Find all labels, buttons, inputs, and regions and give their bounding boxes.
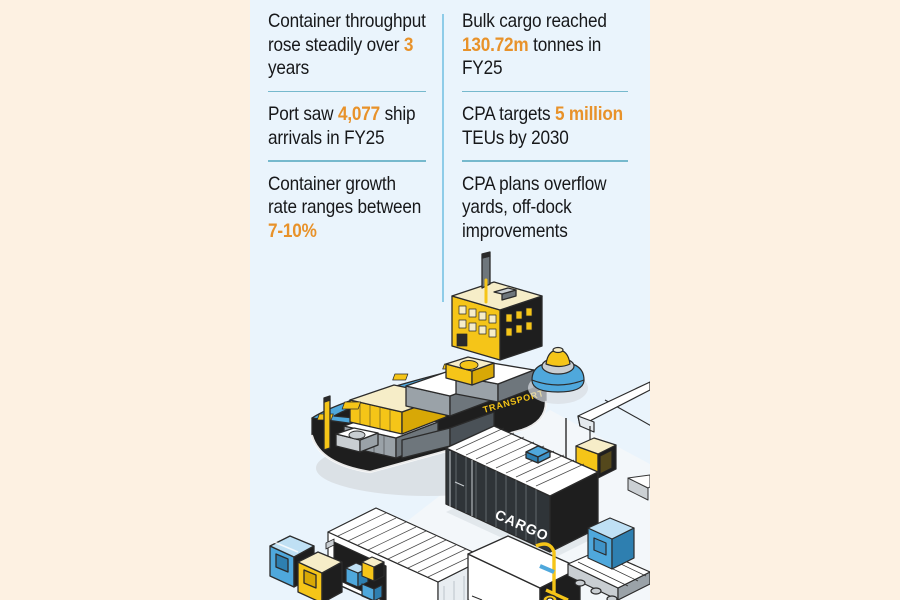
fact-ship-arrivals: Port saw 4,077 ship arrivals in FY25 xyxy=(268,103,428,150)
fact-bulk-cargo: Bulk cargo reached 130.72m tonnes in FY2… xyxy=(462,10,638,81)
fact-highlight: 3 xyxy=(404,34,413,56)
fact-part: TEUs by 2030 xyxy=(462,127,569,149)
fact-highlight: 5 million xyxy=(555,103,623,125)
fact-cpa-teu-target: CPA targets 5 million TEUs by 2030 xyxy=(462,103,638,150)
infographic-canvas: Container throughput rose steadily over … xyxy=(0,0,900,600)
conveyor-box xyxy=(588,518,634,569)
small-boxes xyxy=(270,536,342,600)
facts-column-right: Bulk cargo reached 130.72m tonnes in FY2… xyxy=(442,0,650,310)
infographic-panel: Container throughput rose steadily over … xyxy=(250,0,650,600)
fact-divider xyxy=(268,91,426,93)
facts-section: Container throughput rose steadily over … xyxy=(250,0,650,310)
fact-divider xyxy=(462,91,628,93)
fact-text: CPA plans overflow yards, off-dock impro… xyxy=(462,173,639,244)
fact-text: CPA targets 5 million TEUs by 2030 xyxy=(462,103,639,150)
fact-part: years xyxy=(268,57,309,79)
facts-column-left: Container throughput rose steadily over … xyxy=(250,0,442,310)
fact-part: CPA plans overflow yards, off-dock impro… xyxy=(462,173,606,242)
fact-cpa-overflow-yards: CPA plans overflow yards, off-dock impro… xyxy=(462,173,638,244)
fact-part: Container growth rate ranges between xyxy=(268,173,421,219)
fact-container-growth-rate: Container growth rate ranges between 7-1… xyxy=(268,173,428,244)
fact-text: Container growth rate ranges between 7-1… xyxy=(268,173,429,244)
fact-part: Port saw xyxy=(268,103,338,125)
fact-text: Port saw 4,077 ship arrivals in FY25 xyxy=(268,103,429,150)
fact-part: Container throughput rose steadily over xyxy=(268,10,426,56)
fact-container-throughput: Container throughput rose steadily over … xyxy=(268,10,428,81)
bow-mast xyxy=(324,396,330,450)
fact-part: Bulk cargo reached xyxy=(462,10,607,32)
fact-text: Container throughput rose steadily over … xyxy=(268,10,429,81)
mooring-buoy xyxy=(528,348,588,405)
fact-highlight: 7-10% xyxy=(268,220,317,242)
fact-part: CPA targets xyxy=(462,103,555,125)
fact-divider xyxy=(462,160,628,162)
column-divider xyxy=(442,14,444,302)
fact-text: Bulk cargo reached 130.72m tonnes in FY2… xyxy=(462,10,639,81)
fact-divider xyxy=(268,160,426,162)
fact-highlight: 4,077 xyxy=(338,103,380,125)
fact-highlight: 130.72m xyxy=(462,34,529,56)
